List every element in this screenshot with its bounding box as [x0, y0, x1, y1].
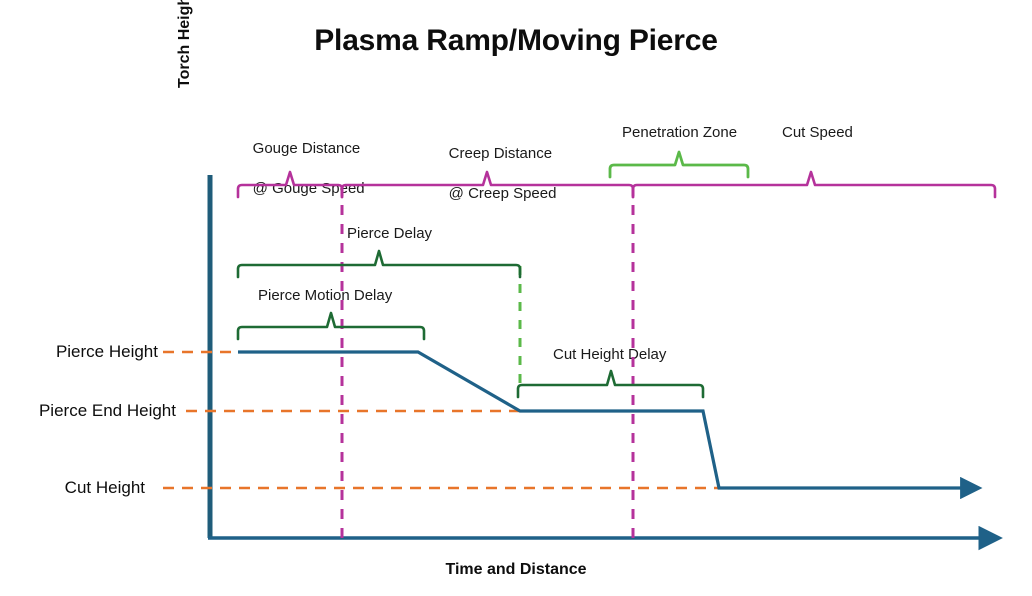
diagram-graphics	[0, 0, 1032, 596]
bracket-penetration-zone	[610, 152, 748, 177]
bracket-cut-height-delay	[518, 371, 703, 397]
bracket-gouge-distance	[238, 172, 342, 197]
bracket-creep-distance	[342, 172, 633, 197]
bracket-pierce-delay	[238, 251, 520, 277]
bracket-pierce-motion-delay	[238, 313, 424, 339]
torch-height-curve	[238, 352, 978, 488]
diagram-canvas: Plasma Ramp/Moving Pierce Torch Height T…	[0, 0, 1032, 596]
bracket-cut-speed	[633, 172, 995, 197]
